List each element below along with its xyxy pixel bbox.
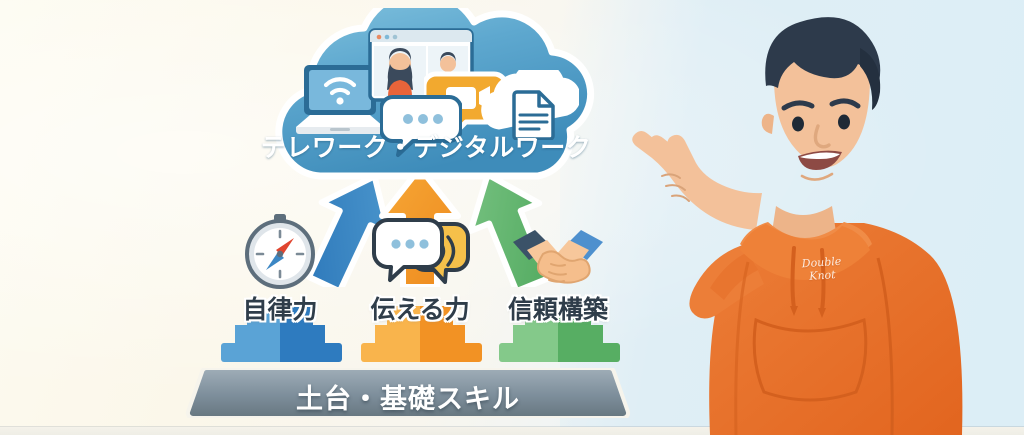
pillar-label-self-discipline: 自律力 xyxy=(205,290,355,326)
speech-bubbles-icon xyxy=(345,218,495,294)
hoodie-logo-line2: Knot xyxy=(809,268,836,283)
pillar-self-discipline[interactable]: 自律力 xyxy=(205,210,355,360)
compass-icon xyxy=(205,210,355,290)
slide-canvas: 自律力 xyxy=(0,0,1024,435)
hoodie-logo: Double Knot xyxy=(786,254,858,285)
pillar-label-communication: 伝える力 xyxy=(345,290,495,326)
presenter-illustration xyxy=(560,0,1024,435)
pillar-communication[interactable]: 伝える力 xyxy=(345,210,495,360)
